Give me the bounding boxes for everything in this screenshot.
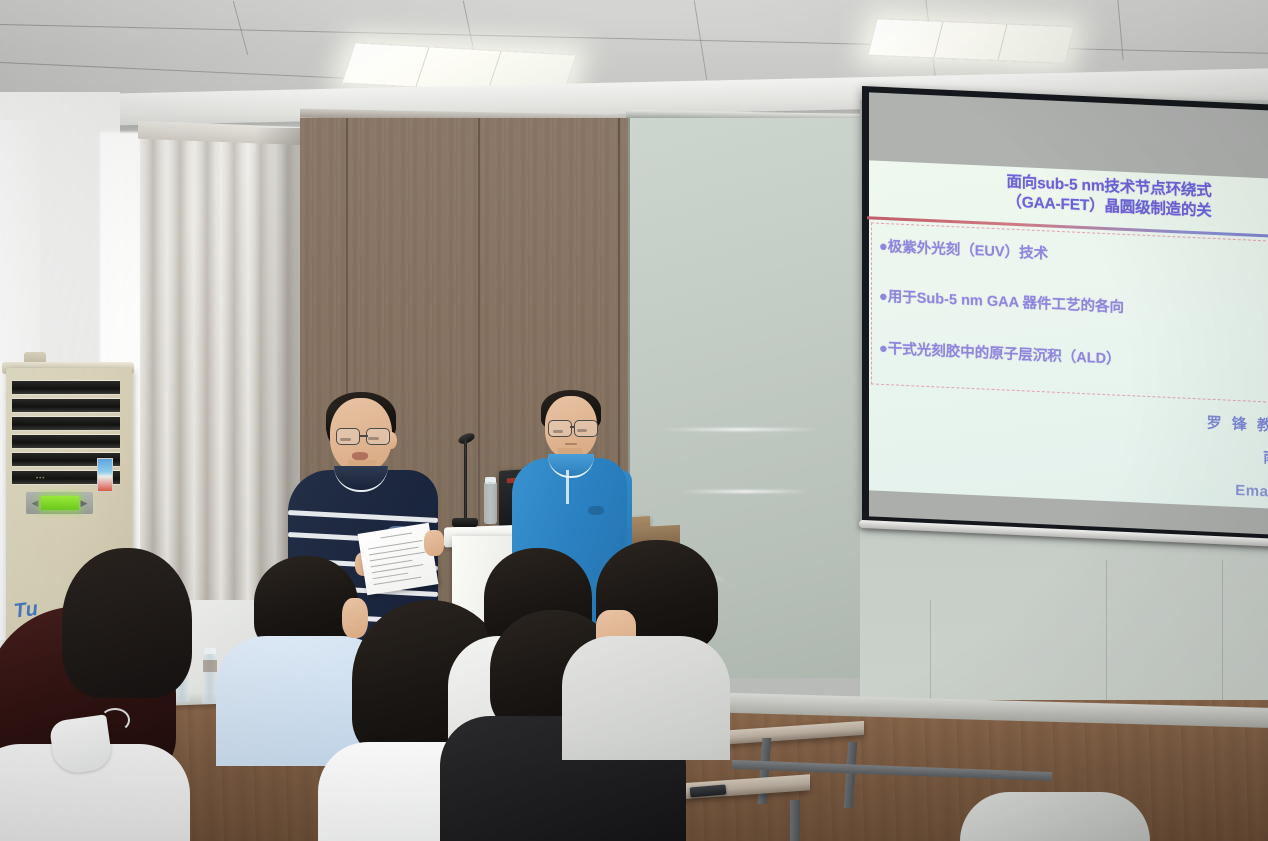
ac-left-arrow-icon[interactable]: ◀ [30, 498, 41, 509]
presenter-podium-placket [566, 470, 569, 504]
ac-louver [12, 434, 120, 448]
microphone-base [452, 518, 478, 527]
ac-lcd-screen [41, 496, 79, 510]
energy-label-sticker [97, 458, 113, 492]
attendee-hair [62, 548, 192, 698]
slide-speaker-name: 罗 锋 教授 [1207, 412, 1268, 437]
ac-right-arrow-icon[interactable]: ▶ [79, 498, 90, 509]
attendee-torso [562, 636, 730, 760]
presenter-podium-eyeglasses [548, 420, 596, 433]
ac-louver [12, 416, 120, 430]
attendee-neck [342, 598, 368, 638]
mask-ear-loop [100, 708, 130, 732]
ac-control-display[interactable]: ◀ ▶ [26, 492, 93, 514]
projection-screen: 面向sub-5 nm技术节点环绕式 （GAA-FET）晶圆级制造的关 ●极紫外光… [862, 86, 1268, 546]
lecture-hall-photo: 面向sub-5 nm技术节点环绕式 （GAA-FET）晶圆级制造的关 ●极紫外光… [0, 0, 1268, 841]
water-bottle [484, 482, 497, 524]
ac-brand-text: ••• [36, 476, 45, 482]
slide-email-label: Email： [1235, 482, 1268, 502]
ac-louver [12, 398, 120, 412]
slide-speaker-affiliation: 南开大 [1263, 446, 1268, 469]
microphone-stem [464, 438, 467, 524]
ac-louver [12, 380, 120, 394]
slide-email-row: Email：feng [1235, 479, 1268, 504]
slide-title: 面向sub-5 nm技术节点环绕式 （GAA-FET）晶圆级制造的关 [869, 166, 1268, 225]
desk-leg [790, 800, 800, 841]
presenter-podium-shirt-logo [588, 506, 604, 515]
presentation-slide: 面向sub-5 nm技术节点环绕式 （GAA-FET）晶圆级制造的关 ●极紫外光… [869, 160, 1268, 509]
screen-surface: 面向sub-5 nm技术节点环绕式 （GAA-FET）晶圆级制造的关 ●极紫外光… [869, 92, 1268, 535]
presenter-speaking-hand [424, 530, 444, 556]
attendee-torso [960, 792, 1150, 841]
presenter-speaking-eyeglasses [336, 428, 394, 444]
